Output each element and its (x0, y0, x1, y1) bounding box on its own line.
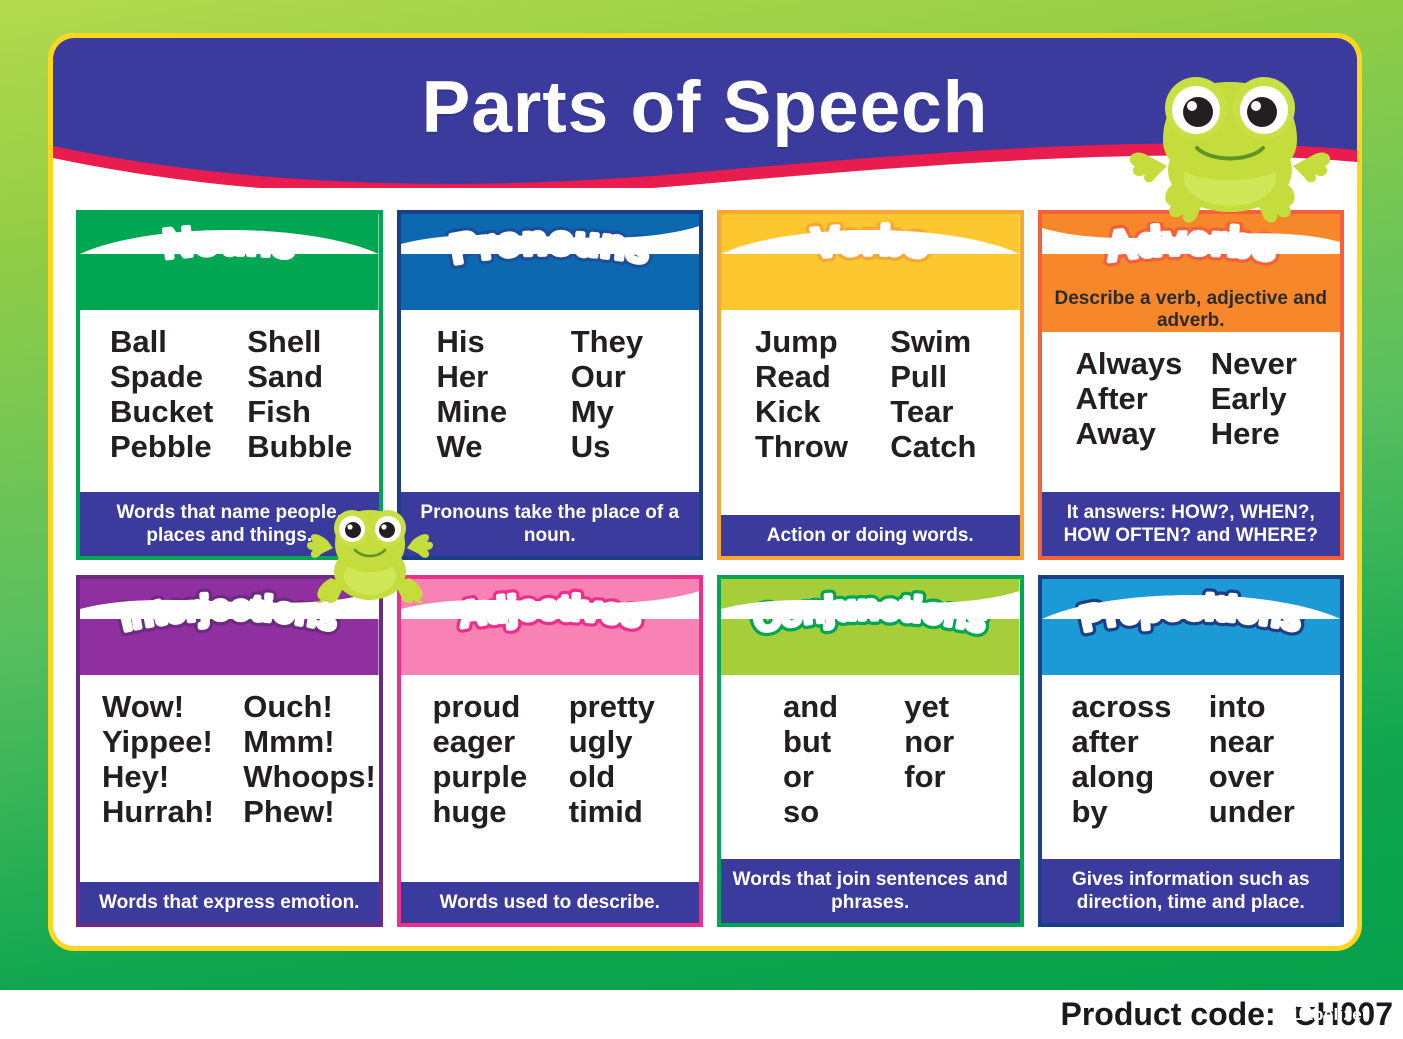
word-item: Fish (247, 394, 378, 429)
logo-copyright: © (1362, 1005, 1369, 1015)
word-item: Tear (890, 394, 1019, 429)
card-definition-interjections: Words that express emotion. (80, 882, 379, 923)
word-item: by (1072, 794, 1203, 829)
word-item: Always (1076, 346, 1205, 381)
parts-of-speech-grid: NounsNounsNounsBallSpadeBucketPebbleShel… (76, 210, 1344, 927)
word-column: Wow!Yippee!Hey!Hurrah! (80, 689, 237, 882)
card-definition-adverbs: It answers: HOW?, WHEN?, HOW OFTEN? and … (1042, 492, 1341, 556)
word-item: Read (755, 359, 884, 394)
footer-bar: Product code: CH007 (0, 990, 1403, 1039)
card-header-nouns: NounsNounsNouns (80, 214, 379, 310)
word-item: pretty (569, 689, 699, 724)
word-column: SwimPullTearCatch (884, 324, 1019, 515)
card-subtitle-adverbs: Describe a verb, adjective and adverb. (1042, 288, 1341, 332)
card-conjunctions: ConjunctionsConjunctionsConjunctionsandb… (717, 575, 1024, 927)
word-item: Early (1211, 381, 1340, 416)
word-item: nor (904, 724, 1019, 759)
card-prepositions: PrepositionsPrepositionsPrepositionsacro… (1038, 575, 1345, 927)
word-item: Away (1076, 416, 1205, 451)
word-item: proud (433, 689, 563, 724)
poster-root: Parts of Speech NounsNounsNounsBallSpade… (0, 0, 1403, 1039)
word-list-prepositions: acrossafteralongbyintonearoverunder (1042, 675, 1341, 859)
word-item: Shell (247, 324, 378, 359)
card-verbs: VerbsVerbsVerbsJumpReadKickThrowSwimPull… (717, 210, 1024, 560)
word-item: Bucket (110, 394, 241, 429)
card-header-conjunctions: ConjunctionsConjunctionsConjunctions (721, 579, 1020, 675)
card-header-wave-edge (80, 214, 379, 254)
word-list-adverbs: AlwaysAfterAwayNeverEarlyHere (1042, 332, 1341, 492)
word-item: for (904, 759, 1019, 794)
card-pronouns: PronounsPronounsPronounsHisHerMineWeThey… (397, 210, 704, 560)
poster-inner-panel: Parts of Speech NounsNounsNounsBallSpade… (48, 33, 1362, 951)
card-definition-pronouns: Pronouns take the place of a noun. (401, 492, 700, 556)
word-item: Catch (890, 429, 1019, 464)
word-item: Jump (755, 324, 884, 359)
card-nouns: NounsNounsNounsBallSpadeBucketPebbleShel… (76, 210, 383, 560)
card-header-prepositions: PrepositionsPrepositionsPrepositions (1042, 579, 1341, 675)
card-header-wave-edge (721, 214, 1020, 254)
word-item: Yippee! (102, 724, 237, 759)
card-header-wave-edge (721, 579, 1020, 619)
word-column: intonearoverunder (1203, 689, 1340, 859)
word-column: proudeagerpurplehuge (401, 689, 563, 882)
word-item: huge (433, 794, 563, 829)
word-item: Hey! (102, 759, 237, 794)
word-item: Her (437, 359, 565, 394)
word-item: timid (569, 794, 699, 829)
word-item: Hurrah! (102, 794, 237, 829)
card-adjectives: AdjectivesAdjectivesAdjectivesproudeager… (397, 575, 704, 927)
word-column: NeverEarlyHere (1205, 346, 1340, 492)
card-header-adverbs: AdverbsAdverbsAdverbsDescribe a verb, ad… (1042, 214, 1341, 332)
card-header-verbs: VerbsVerbsVerbs (721, 214, 1020, 310)
word-item: but (783, 724, 898, 759)
word-item: yet (904, 689, 1019, 724)
page-title: Parts of Speech (53, 66, 1357, 149)
word-list-interjections: Wow!Yippee!Hey!Hurrah!Ouch!Mmm!Whoops!Ph… (80, 675, 379, 882)
word-item: Spade (110, 359, 241, 394)
word-item: We (437, 429, 565, 464)
labelize-logo: Labelize© (1293, 1005, 1369, 1025)
word-column: andbutorso (721, 689, 898, 859)
word-column: prettyuglyoldtimid (563, 689, 699, 882)
word-item: old (569, 759, 699, 794)
word-column: Ouch!Mmm!Whoops!Phew! (237, 689, 378, 882)
word-item: Pebble (110, 429, 241, 464)
word-item: over (1209, 759, 1340, 794)
card-definition-nouns: Words that name people, places and thing… (80, 492, 379, 556)
word-item: Whoops! (243, 759, 378, 794)
word-item: or (783, 759, 898, 794)
word-item: after (1072, 724, 1203, 759)
card-definition-prepositions: Gives information such as direction, tim… (1042, 859, 1341, 923)
word-column: JumpReadKickThrow (721, 324, 884, 515)
card-header-wave-edge (401, 579, 700, 619)
word-item: Ball (110, 324, 241, 359)
word-item: eager (433, 724, 563, 759)
word-item: My (571, 394, 699, 429)
word-list-adjectives: proudeagerpurplehugeprettyuglyoldtimid (401, 675, 700, 882)
card-header-adjectives: AdjectivesAdjectivesAdjectives (401, 579, 700, 675)
word-item: along (1072, 759, 1203, 794)
card-definition-conjunctions: Words that join sentences and phrases. (721, 859, 1020, 923)
word-item: purple (433, 759, 563, 794)
word-item: Us (571, 429, 699, 464)
word-item: near (1209, 724, 1340, 759)
card-header-wave-edge (401, 214, 700, 254)
word-item: Kick (755, 394, 884, 429)
word-item: and (783, 689, 898, 724)
word-item: into (1209, 689, 1340, 724)
word-item: They (571, 324, 699, 359)
word-column: acrossafteralongby (1042, 689, 1203, 859)
word-column: HisHerMineWe (401, 324, 565, 492)
card-header-wave-edge (1042, 214, 1341, 254)
card-header-interjections: InterjectionsInterjectionsInterjections (80, 579, 379, 675)
word-item: across (1072, 689, 1203, 724)
word-item: Never (1211, 346, 1340, 381)
word-item: Ouch! (243, 689, 378, 724)
word-list-verbs: JumpReadKickThrowSwimPullTearCatch (721, 310, 1020, 515)
word-item: Our (571, 359, 699, 394)
word-item: Sand (247, 359, 378, 394)
word-item: His (437, 324, 565, 359)
word-item: Pull (890, 359, 1019, 394)
word-item: Phew! (243, 794, 378, 829)
crown-icon (1295, 996, 1317, 1008)
card-definition-adjectives: Words used to describe. (401, 882, 700, 923)
word-item: under (1209, 794, 1340, 829)
word-column: ShellSandFishBubble (241, 324, 378, 492)
word-column: BallSpadeBucketPebble (80, 324, 241, 492)
word-item: Here (1211, 416, 1340, 451)
card-header-pronouns: PronounsPronounsPronouns (401, 214, 700, 310)
word-column: AlwaysAfterAway (1042, 346, 1205, 492)
word-column: yetnorfor (898, 689, 1019, 859)
card-interjections: InterjectionsInterjectionsInterjectionsW… (76, 575, 383, 927)
word-item: Swim (890, 324, 1019, 359)
word-column: TheyOurMyUs (565, 324, 699, 492)
word-item: ugly (569, 724, 699, 759)
card-header-wave-edge (80, 579, 379, 619)
card-adverbs: AdverbsAdverbsAdverbsDescribe a verb, ad… (1038, 210, 1345, 560)
title-banner: Parts of Speech (53, 38, 1357, 188)
word-item: After (1076, 381, 1205, 416)
card-header-wave-edge (1042, 579, 1341, 619)
word-item: so (783, 794, 898, 829)
word-item: Mine (437, 394, 565, 429)
word-list-pronouns: HisHerMineWeTheyOurMyUs (401, 310, 700, 492)
card-definition-verbs: Action or doing words. (721, 515, 1020, 556)
word-item: Mmm! (243, 724, 378, 759)
word-list-nouns: BallSpadeBucketPebbleShellSandFishBubble (80, 310, 379, 492)
word-item: Throw (755, 429, 884, 464)
word-item: Bubble (247, 429, 378, 464)
word-list-conjunctions: andbutorsoyetnorfor (721, 675, 1020, 859)
word-item: Wow! (102, 689, 237, 724)
